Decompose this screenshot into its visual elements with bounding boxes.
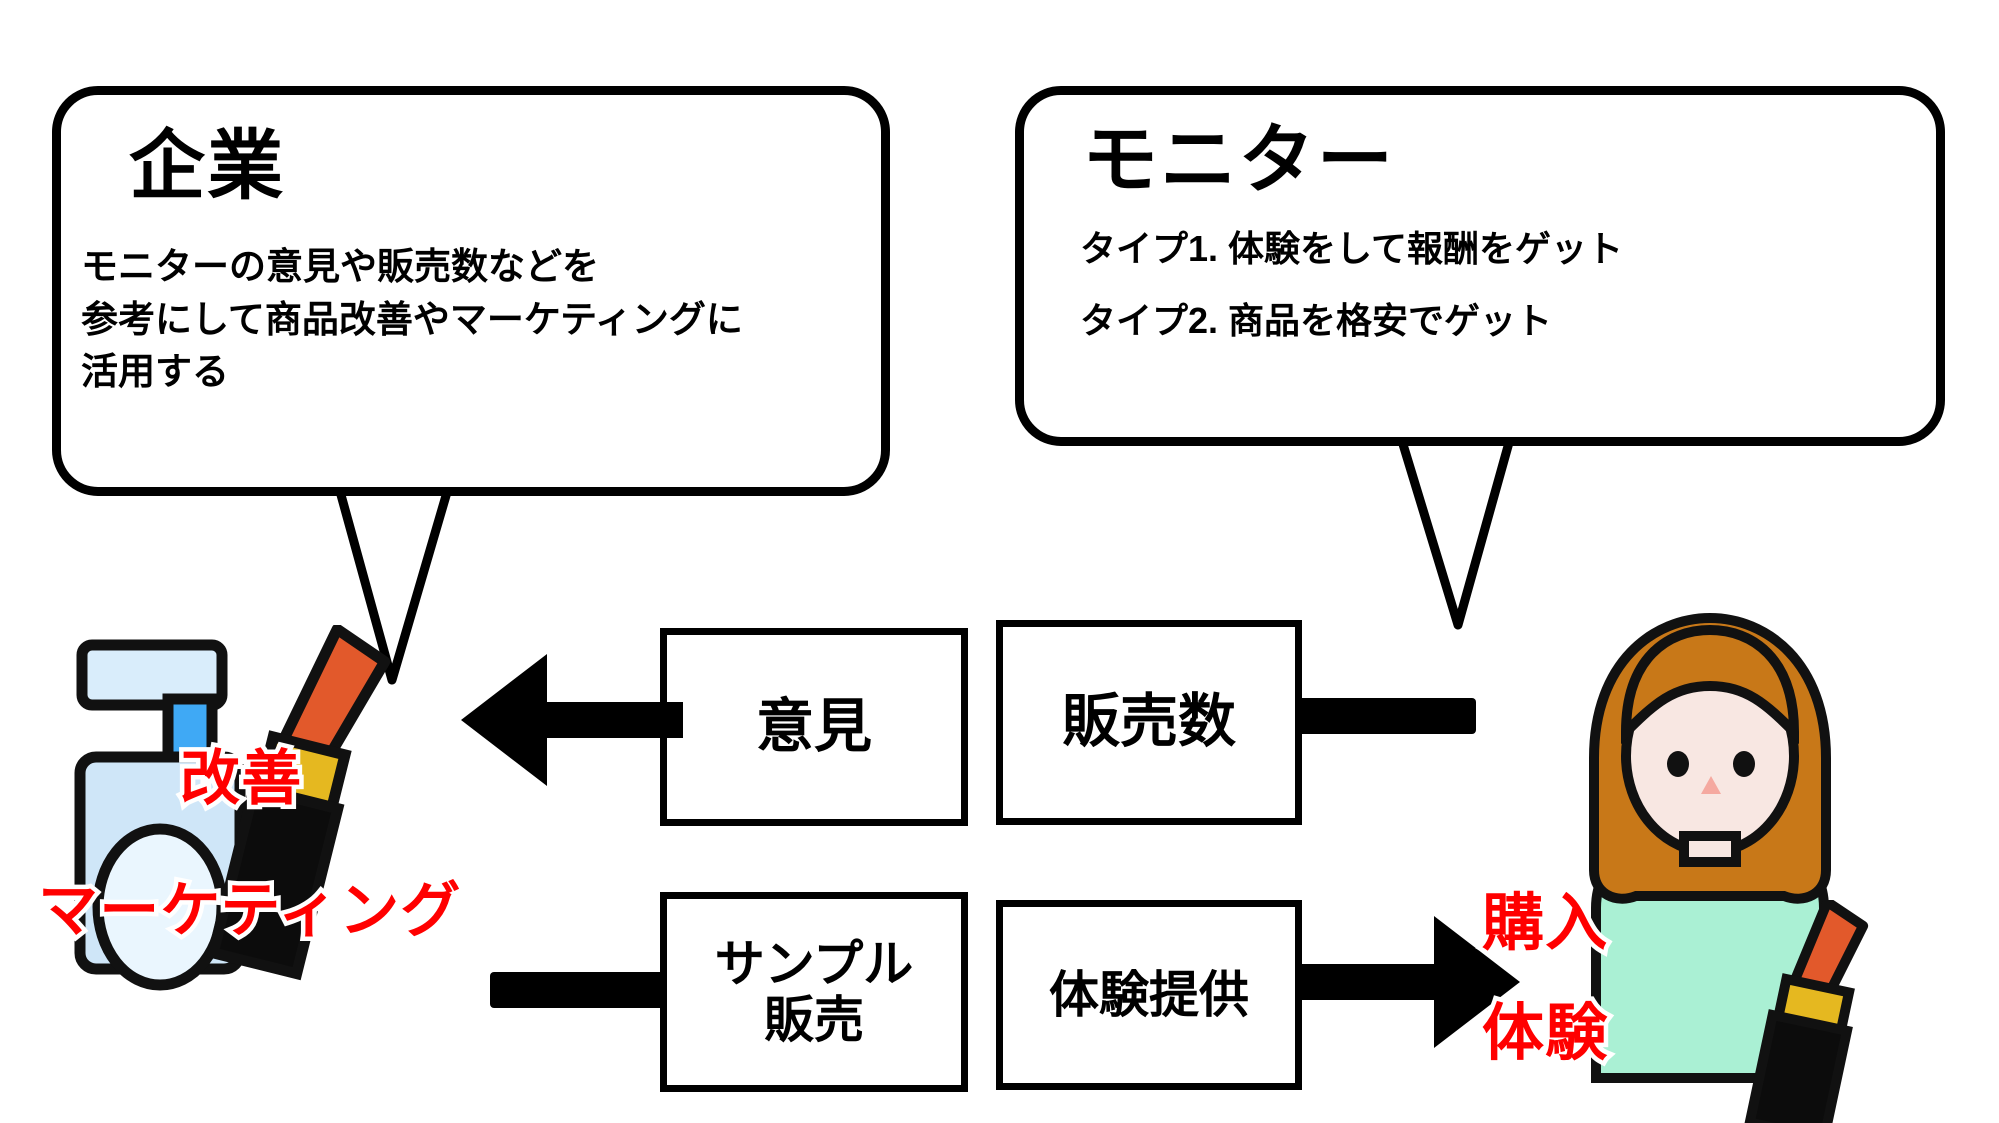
eye-left	[1667, 751, 1689, 777]
company-body-line-2: 参考にして商品改善やマーケティングに	[81, 294, 881, 347]
label-marketing: マーケティング	[38, 862, 462, 949]
monitor-bubble-body: タイプ1. 体験をして報酬をゲット タイプ2. 商品を格安でゲット	[1080, 231, 1936, 339]
monitor-body-line-2: タイプ2. 商品を格安でゲット	[1080, 303, 1936, 339]
company-bubble-title: 企業	[129, 129, 881, 205]
neck-shape	[1684, 836, 1736, 862]
eye-right	[1733, 751, 1755, 777]
company-bubble-body: モニターの意見や販売数などを 参考にして商品改善やマーケティングに 活用する	[81, 241, 881, 399]
flow-box-sales-label: 販売数	[1062, 690, 1236, 755]
monitor-body-line-1: タイプ1. 体験をして報酬をゲット	[1080, 231, 1936, 267]
label-kounyu: 購入	[1482, 872, 1608, 962]
flow-box-sample-label-line2: 販売	[715, 992, 914, 1048]
flow-box-trial-label: 体験提供	[1049, 967, 1249, 1023]
bottom-connector-bar	[490, 972, 670, 1008]
top-left-arrow	[455, 640, 685, 800]
label-taiken: 体験	[1482, 982, 1608, 1072]
company-body-line-1: モニターの意見や販売数などを	[81, 241, 881, 294]
flow-box-sample[interactable]: サンプル 販売	[660, 892, 968, 1092]
woman-lipstick-icon	[1740, 900, 1930, 1123]
speech-bubble-monitor: モニター タイプ1. 体験をして報酬をゲット タイプ2. 商品を格安でゲット	[1015, 86, 1945, 446]
speech-bubble-company: 企業 モニターの意見や販売数などを 参考にして商品改善やマーケティングに 活用す…	[52, 86, 890, 496]
company-body-line-3: 活用する	[81, 346, 881, 399]
monitor-bubble-title: モニター	[1082, 123, 1936, 199]
flow-box-trial[interactable]: 体験提供	[996, 900, 1302, 1090]
label-kaizen: 改善	[180, 730, 302, 817]
flow-box-opinion[interactable]: 意見	[660, 628, 968, 826]
flow-box-sample-label-line1: サンプル	[715, 936, 914, 992]
flow-box-opinion-label: 意見	[756, 695, 872, 760]
flow-box-sales[interactable]: 販売数	[996, 620, 1302, 825]
diagram-canvas: 企業 モニターの意見や販売数などを 参考にして商品改善やマーケティングに 活用す…	[0, 0, 1999, 1123]
top-connector-bar	[1296, 698, 1476, 734]
